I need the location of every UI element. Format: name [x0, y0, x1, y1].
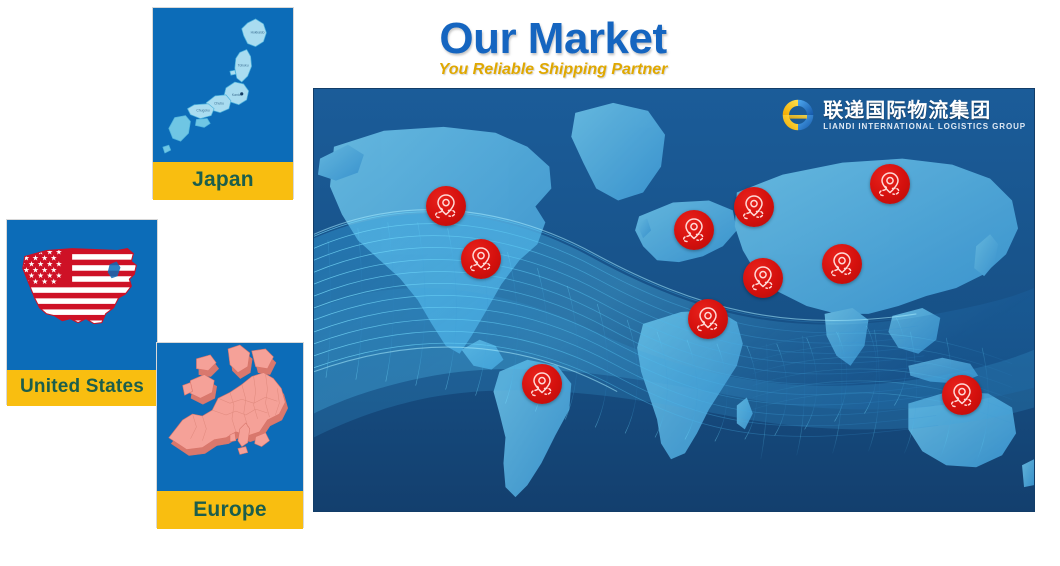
brand-name-en: LIANDI INTERNATIONAL LOGISTICS GROUP	[823, 123, 1026, 131]
brand-logo: 联递国际物流集团 LIANDI INTERNATIONAL LOGISTICS …	[780, 97, 1026, 133]
page-subtitle: You Reliable Shipping Partner	[313, 61, 793, 79]
brand-name-cn: 联递国际物流集团	[823, 100, 1026, 120]
pin-south-america[interactable]	[522, 364, 562, 404]
world-market-map[interactable]: 1001011110101011010101110101010110010101…	[313, 88, 1035, 512]
japan-region-hokkaido: Hokkaido	[251, 31, 265, 35]
pin-russia-north[interactable]	[734, 187, 774, 227]
pin-east-asia[interactable]	[822, 244, 862, 284]
market-slide: Hokkaido Tohoku Kanto Chubu Chugoku Japa…	[0, 0, 1060, 566]
usa-flag-map-icon: ★ ★ ★ ★ ★ ★ ★ ★ ★ ★ ★ ★ ★ ★ ★ ★ ★ ★ ★ ★ …	[7, 220, 157, 370]
pin-northeast-asia[interactable]	[870, 164, 910, 204]
japan-map-icon: Hokkaido Tohoku Kanto Chubu Chugoku	[153, 8, 293, 162]
circular-swoosh-icon	[780, 97, 816, 133]
country-card-label-europe: Europe	[157, 491, 303, 529]
brand-wordmark: 联递国际物流集团 LIANDI INTERNATIONAL LOGISTICS …	[823, 100, 1026, 131]
pin-oceania[interactable]	[942, 375, 982, 415]
pin-north-america-south[interactable]	[461, 239, 501, 279]
japan-region-chugoku: Chugoku	[196, 109, 210, 113]
pin-western-europe[interactable]	[674, 210, 714, 250]
japan-region-kanto: Kanto	[232, 93, 241, 97]
pin-africa[interactable]	[688, 299, 728, 339]
page-title: Our Market	[313, 14, 793, 64]
pin-north-america-west[interactable]	[426, 186, 466, 226]
japan-region-chubu: Chubu	[214, 102, 224, 106]
svg-text:★ ★ ★ ★ ★: ★ ★ ★ ★ ★	[14, 277, 57, 286]
japan-map-panel: Hokkaido Tohoku Kanto Chubu Chugoku	[153, 8, 293, 162]
japan-capital-marker	[240, 92, 243, 95]
country-card-japan[interactable]: Hokkaido Tohoku Kanto Chubu Chugoku Japa…	[152, 7, 294, 199]
country-card-label-japan: Japan	[153, 162, 293, 200]
europe-map-panel	[157, 343, 303, 491]
country-card-united-states[interactable]: ★ ★ ★ ★ ★ ★ ★ ★ ★ ★ ★ ★ ★ ★ ★ ★ ★ ★ ★ ★ …	[6, 219, 158, 405]
europe-map-icon	[157, 343, 303, 491]
pin-central-asia[interactable]	[743, 258, 783, 298]
japan-region-tohoku: Tohoku	[238, 63, 249, 67]
country-card-label-united-states: United States	[7, 370, 157, 406]
usa-map-panel: ★ ★ ★ ★ ★ ★ ★ ★ ★ ★ ★ ★ ★ ★ ★ ★ ★ ★ ★ ★ …	[7, 220, 157, 370]
country-card-europe[interactable]: Europe	[156, 342, 304, 528]
world-map-graphic	[314, 89, 1034, 511]
